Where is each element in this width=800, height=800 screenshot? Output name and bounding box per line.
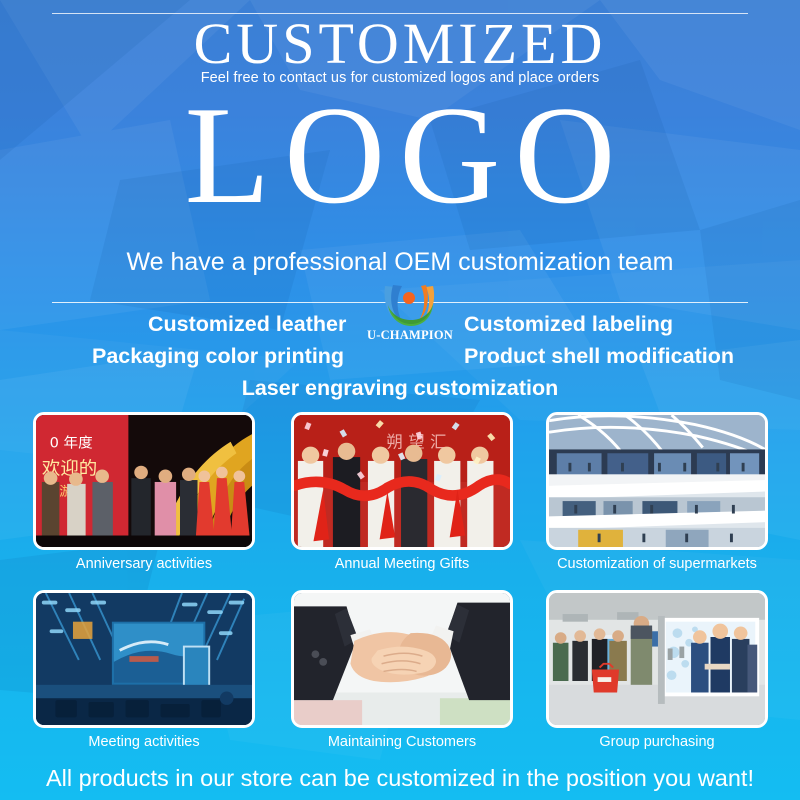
svg-text:0 年度: 0 年度 [50,435,93,452]
gallery-item[interactable]: Meeting activities [33,590,255,728]
award-ceremony-stage-photo[interactable]: 0 年度 欢迎的 游 [33,412,255,550]
conference-stage-led-screen-photo[interactable] [33,590,255,728]
gallery-caption: Meeting activities [33,734,255,750]
gallery-grid: 0 年度 欢迎的 游 [33,412,770,768]
service-item-packaging-color-printing: Packaging color printing [92,344,344,369]
gallery-item[interactable]: 0 年度 欢迎的 游 [33,412,255,550]
mall-billboard-shoppers-photo[interactable] [546,590,768,728]
gallery-caption: Maintaining Customers [291,734,513,750]
service-item-customized-labeling: Customized labeling [464,312,673,337]
ribbon-cutting-ceremony-photo[interactable]: 朔 望 汇 [291,412,513,550]
service-item-laser-engraving: Laser engraving customization [0,376,800,401]
footer-message: All products in our store can be customi… [0,765,800,792]
brand-name: U-CHAMPION [360,328,460,343]
logo-wordmark: LOGO [0,86,800,226]
gallery-caption: Annual Meeting Gifts [291,556,513,572]
gallery-row-top: 0 年度 欢迎的 游 [33,412,770,590]
shopping-mall-interior-photo[interactable] [546,412,768,550]
gallery-item[interactable]: Group purchasing [546,590,768,728]
oem-tagline: We have a professional OEM customization… [0,248,800,277]
gallery-row-bottom: Meeting activities [33,590,770,768]
gallery-item[interactable]: 朔 望 汇 [291,412,513,550]
gallery-item[interactable]: Maintaining Customers [291,590,513,728]
gallery-item[interactable]: Customization of supermarkets [546,412,768,550]
gallery-caption: Group purchasing [546,734,768,750]
service-item-customized-leather: Customized leather [148,312,346,337]
service-item-product-shell-modification: Product shell modification [464,344,734,369]
business-handshake-photo[interactable] [291,590,513,728]
page-headline: CUSTOMIZED [0,14,800,75]
promotional-banner: CUSTOMIZED Feel free to contact us for c… [0,0,800,800]
u-champion-swoosh-icon [381,283,439,327]
gallery-caption: Customization of supermarkets [546,556,768,572]
brand-logo: U-CHAMPION [360,283,460,345]
gallery-caption: Anniversary activities [33,556,255,572]
